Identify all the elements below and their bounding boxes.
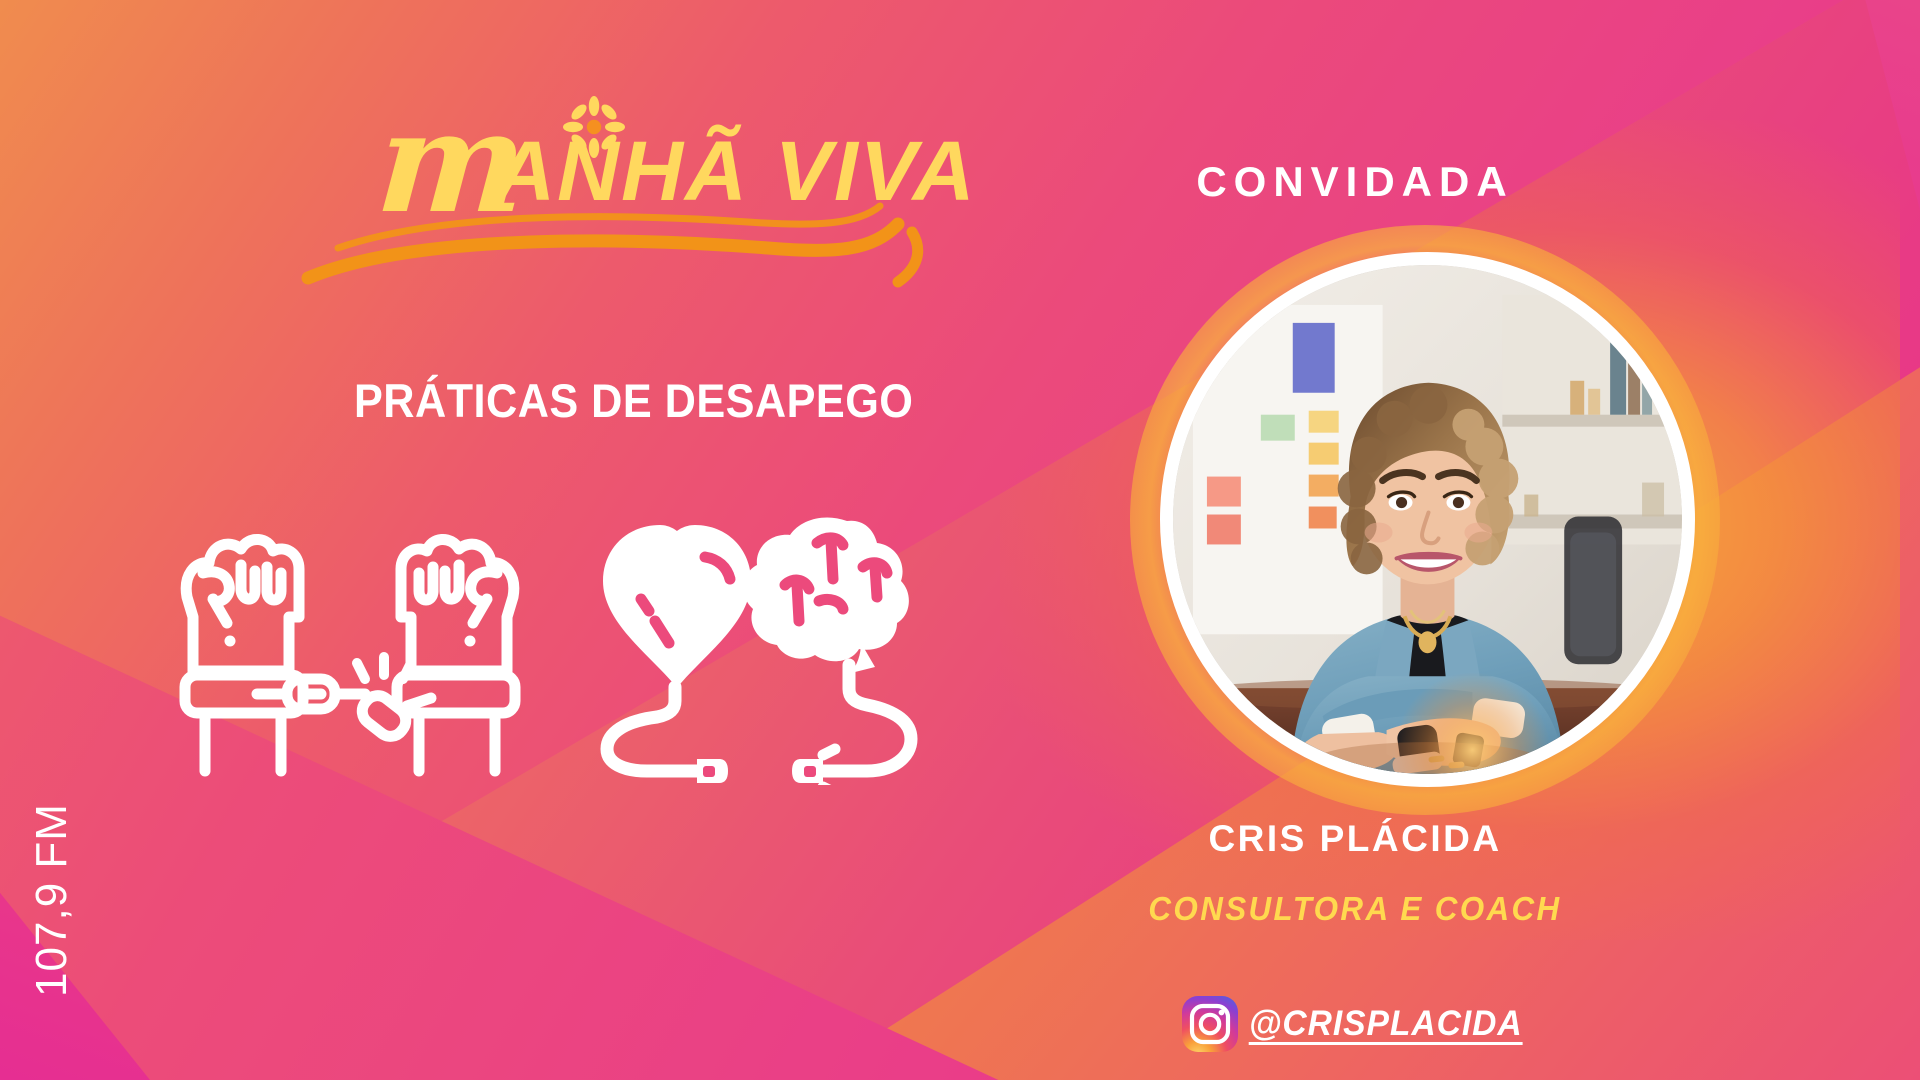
logo-wordmark: m ANHÃ VIVA (370, 110, 990, 218)
topic-title: PRÁTICAS DE DESAPEGO (354, 373, 906, 428)
guest-section-label: CONVIDADA (1075, 158, 1635, 206)
daisy-flower-icon (563, 96, 625, 158)
guest-role: CONSULTORA E COACH (1099, 890, 1612, 928)
station-frequency-label: 107,9 FM (27, 790, 77, 1010)
guest-photo (1173, 265, 1682, 774)
topic-icon-row (175, 505, 955, 785)
social-handle-row[interactable]: @CRISPLACIDA (1085, 995, 1625, 1053)
instagram-icon[interactable] (1181, 995, 1239, 1053)
guest-portrait-frame (1160, 252, 1695, 787)
program-logo: m ANHÃ VIVA (370, 110, 990, 280)
guest-name: CRIS PLÁCIDA (1085, 818, 1625, 860)
instagram-handle[interactable]: @CRISPLACIDA (1249, 1004, 1523, 1044)
background-pink-corner-top-right (1790, 0, 1920, 210)
broken-chains-fists-icon (175, 511, 525, 779)
broadcast-promo-card: m ANHÃ VIVA PRÁTICAS DE DESAPEGO (0, 0, 1920, 1080)
heart-brain-unplugged-icon (585, 505, 930, 785)
guest-portrait (1173, 265, 1682, 774)
